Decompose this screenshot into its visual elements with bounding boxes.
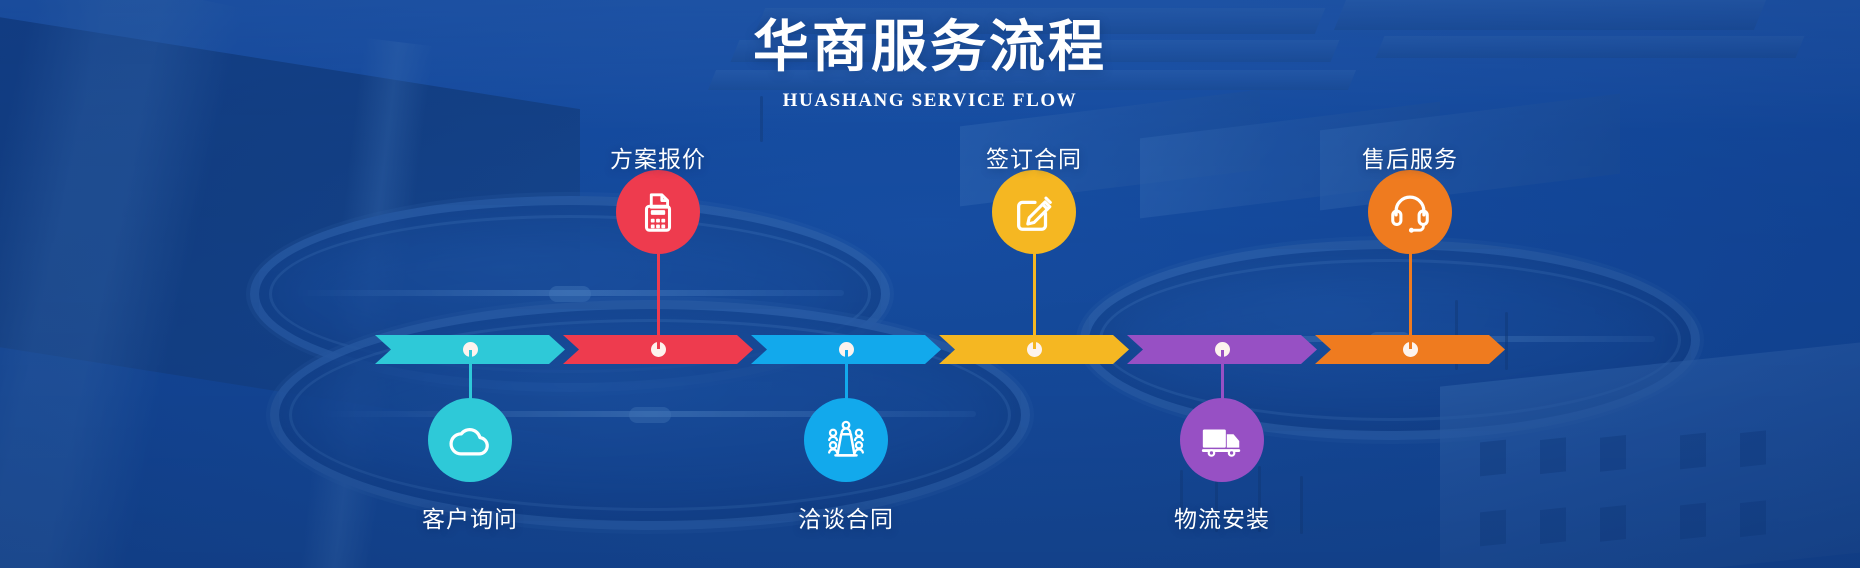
sign-contract-pen-icon — [1011, 189, 1057, 235]
delivery-truck-icon — [1199, 417, 1245, 463]
meeting-people-icon — [823, 417, 869, 463]
flow-connector-4 — [1033, 250, 1036, 349]
receipt-printer-icon — [635, 189, 681, 235]
flow-node-2[interactable] — [616, 170, 700, 254]
cloud-icon — [447, 417, 493, 463]
flow-label-4: 签订合同 — [986, 140, 1082, 174]
flow-label-2: 方案报价 — [610, 140, 706, 174]
page-subtitle: HUASHANG SERVICE FLOW — [0, 90, 1860, 112]
flow-label-3: 洽谈合同 — [798, 500, 894, 534]
flow-node-5[interactable] — [1180, 398, 1264, 482]
flow-node-6[interactable] — [1368, 170, 1452, 254]
flow-label-6: 售后服务 — [1362, 140, 1458, 174]
flow-connector-2 — [657, 250, 660, 349]
flow-label-5: 物流安装 — [1174, 500, 1270, 534]
flow-node-1[interactable] — [428, 398, 512, 482]
flow-label-1: 客户询问 — [422, 500, 518, 534]
page-title: 华商服务流程 — [0, 16, 1860, 78]
service-flow-banner: 华商服务流程 HUASHANG SERVICE FLOW — [0, 0, 1860, 568]
flow-node-4[interactable] — [992, 170, 1076, 254]
flow-connector-6 — [1409, 250, 1412, 349]
headset-support-icon — [1387, 189, 1433, 235]
banner-title-block: 华商服务流程 HUASHANG SERVICE FLOW — [0, 16, 1860, 112]
flow-node-3[interactable] — [804, 398, 888, 482]
